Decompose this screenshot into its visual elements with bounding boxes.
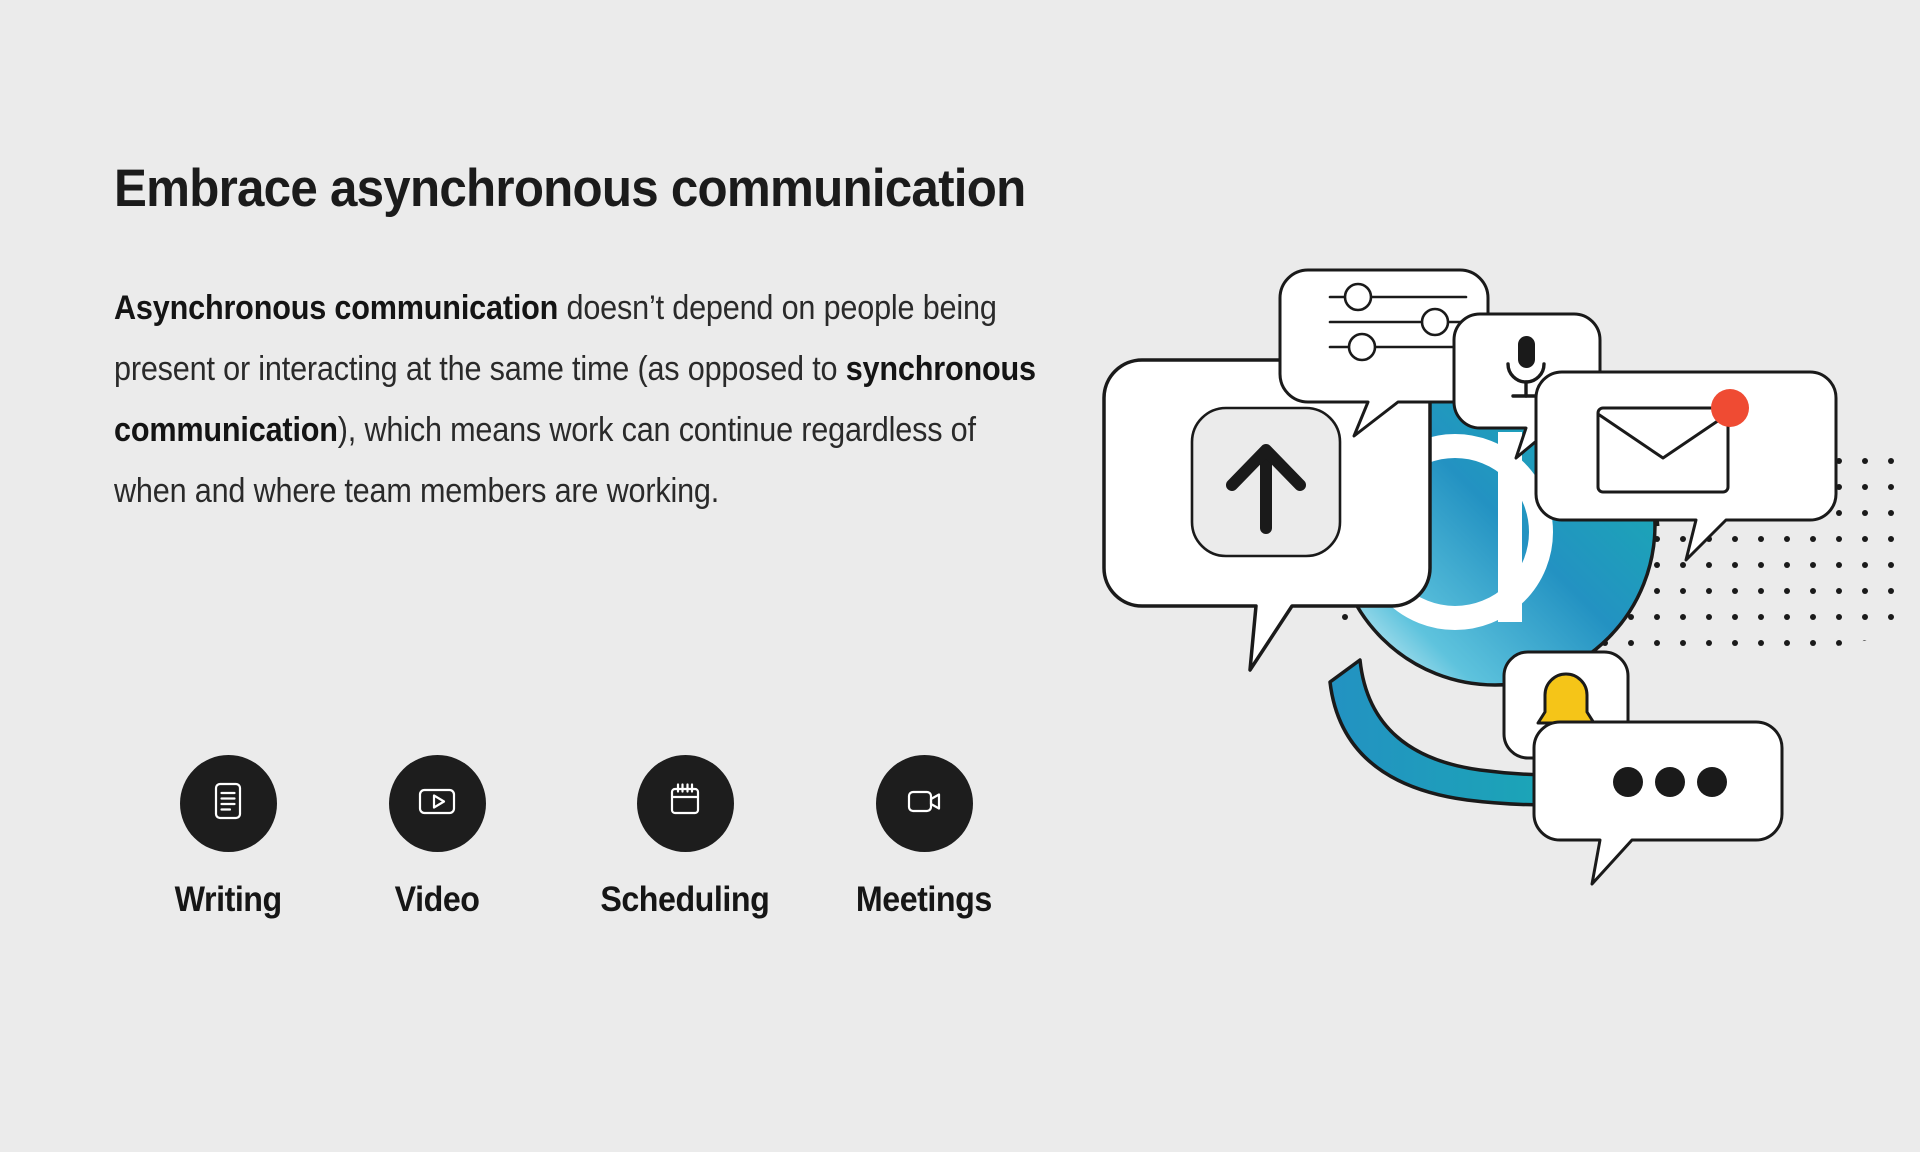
play-button-icon xyxy=(411,775,463,832)
feature-circle-video[interactable] xyxy=(389,755,486,852)
feature-item-video[interactable]: Video xyxy=(318,755,556,920)
feature-row: Writing Video xyxy=(138,755,1034,920)
notification-dot xyxy=(1711,389,1749,427)
async-communication-illustration xyxy=(1210,300,1920,860)
feature-label-writing: Writing xyxy=(174,880,281,920)
feature-circle-scheduling[interactable] xyxy=(637,755,734,852)
calendar-icon xyxy=(659,775,711,832)
page-title: Embrace asynchronous communication xyxy=(114,158,1025,219)
feature-item-writing[interactable]: Writing xyxy=(138,755,318,920)
feature-item-scheduling[interactable]: Scheduling xyxy=(556,755,814,920)
body-paragraph: Asynchronous communication doesn’t depen… xyxy=(114,278,1041,522)
feature-circle-meetings[interactable] xyxy=(876,755,973,852)
feature-circle-writing[interactable] xyxy=(180,755,277,852)
ellipsis-bubble xyxy=(1534,722,1782,884)
feature-label-video: Video xyxy=(395,880,480,920)
feature-label-meetings: Meetings xyxy=(856,880,992,920)
envelope-icon xyxy=(1598,408,1728,492)
feature-label-scheduling: Scheduling xyxy=(601,880,770,920)
video-camera-icon xyxy=(898,775,950,832)
lead-bold-text: Asynchronous communication xyxy=(114,289,558,327)
feature-item-meetings[interactable]: Meetings xyxy=(814,755,1034,920)
document-lines-icon xyxy=(203,776,253,831)
